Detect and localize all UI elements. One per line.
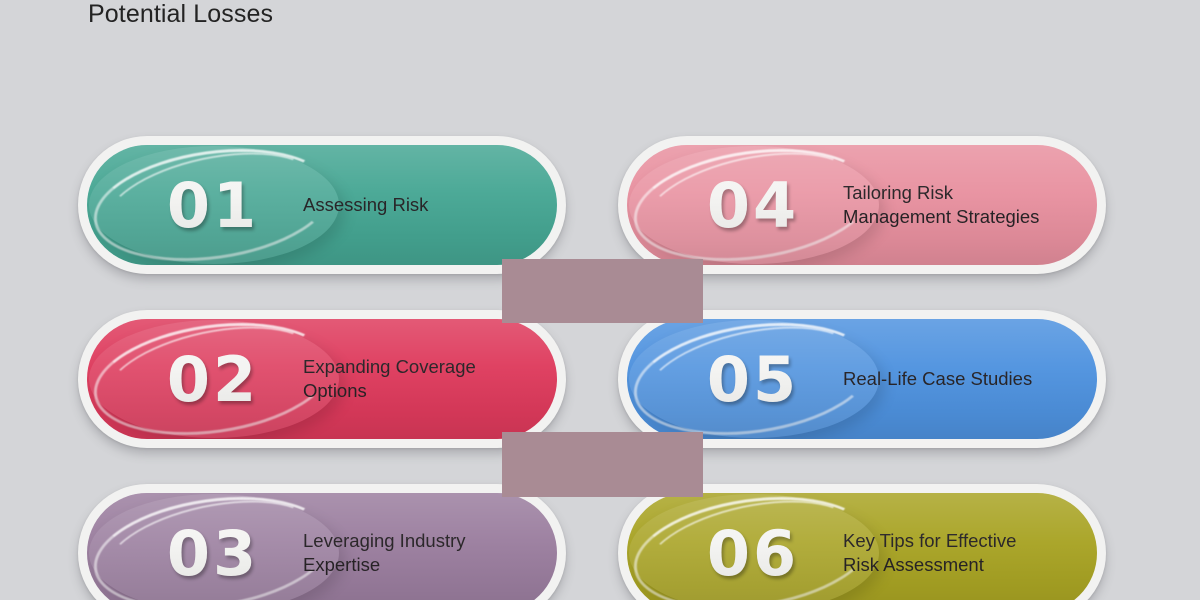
step-number: 02	[87, 319, 339, 439]
step-pill-01[interactable]: 01Assessing Risk	[78, 136, 566, 274]
step-pill-05[interactable]: 05Real-Life Case Studies	[618, 310, 1106, 448]
redaction-block-upper	[502, 259, 703, 323]
pill-outer-ring: 04Tailoring Risk Management Strategies	[618, 136, 1106, 274]
step-number: 05	[627, 319, 879, 439]
step-label: Assessing Risk	[303, 145, 553, 265]
step-pill-02[interactable]: 02Expanding Coverage Options	[78, 310, 566, 448]
pill-body: 03Leveraging Industry Expertise	[87, 493, 557, 600]
step-label: Real-Life Case Studies	[843, 319, 1093, 439]
step-label: Tailoring Risk Management Strategies	[843, 145, 1093, 265]
step-label: Key Tips for Effective Risk Assessment	[843, 493, 1093, 600]
step-pill-04[interactable]: 04Tailoring Risk Management Strategies	[618, 136, 1106, 274]
pill-outer-ring: 02Expanding Coverage Options	[78, 310, 566, 448]
pill-body: 04Tailoring Risk Management Strategies	[627, 145, 1097, 265]
pill-outer-ring: 01Assessing Risk	[78, 136, 566, 274]
pill-body: 02Expanding Coverage Options	[87, 319, 557, 439]
step-number: 06	[627, 493, 879, 600]
step-pill-06[interactable]: 06Key Tips for Effective Risk Assessment	[618, 484, 1106, 600]
redaction-block-lower	[502, 432, 703, 497]
step-label: Expanding Coverage Options	[303, 319, 553, 439]
step-label: Leveraging Industry Expertise	[303, 493, 553, 600]
pill-body: 05Real-Life Case Studies	[627, 319, 1097, 439]
step-number: 03	[87, 493, 339, 600]
step-number: 01	[87, 145, 339, 265]
pill-body: 01Assessing Risk	[87, 145, 557, 265]
step-pill-03[interactable]: 03Leveraging Industry Expertise	[78, 484, 566, 600]
pill-outer-ring: 06Key Tips for Effective Risk Assessment	[618, 484, 1106, 600]
pill-body: 06Key Tips for Effective Risk Assessment	[627, 493, 1097, 600]
step-number: 04	[627, 145, 879, 265]
pill-outer-ring: 03Leveraging Industry Expertise	[78, 484, 566, 600]
pill-outer-ring: 05Real-Life Case Studies	[618, 310, 1106, 448]
